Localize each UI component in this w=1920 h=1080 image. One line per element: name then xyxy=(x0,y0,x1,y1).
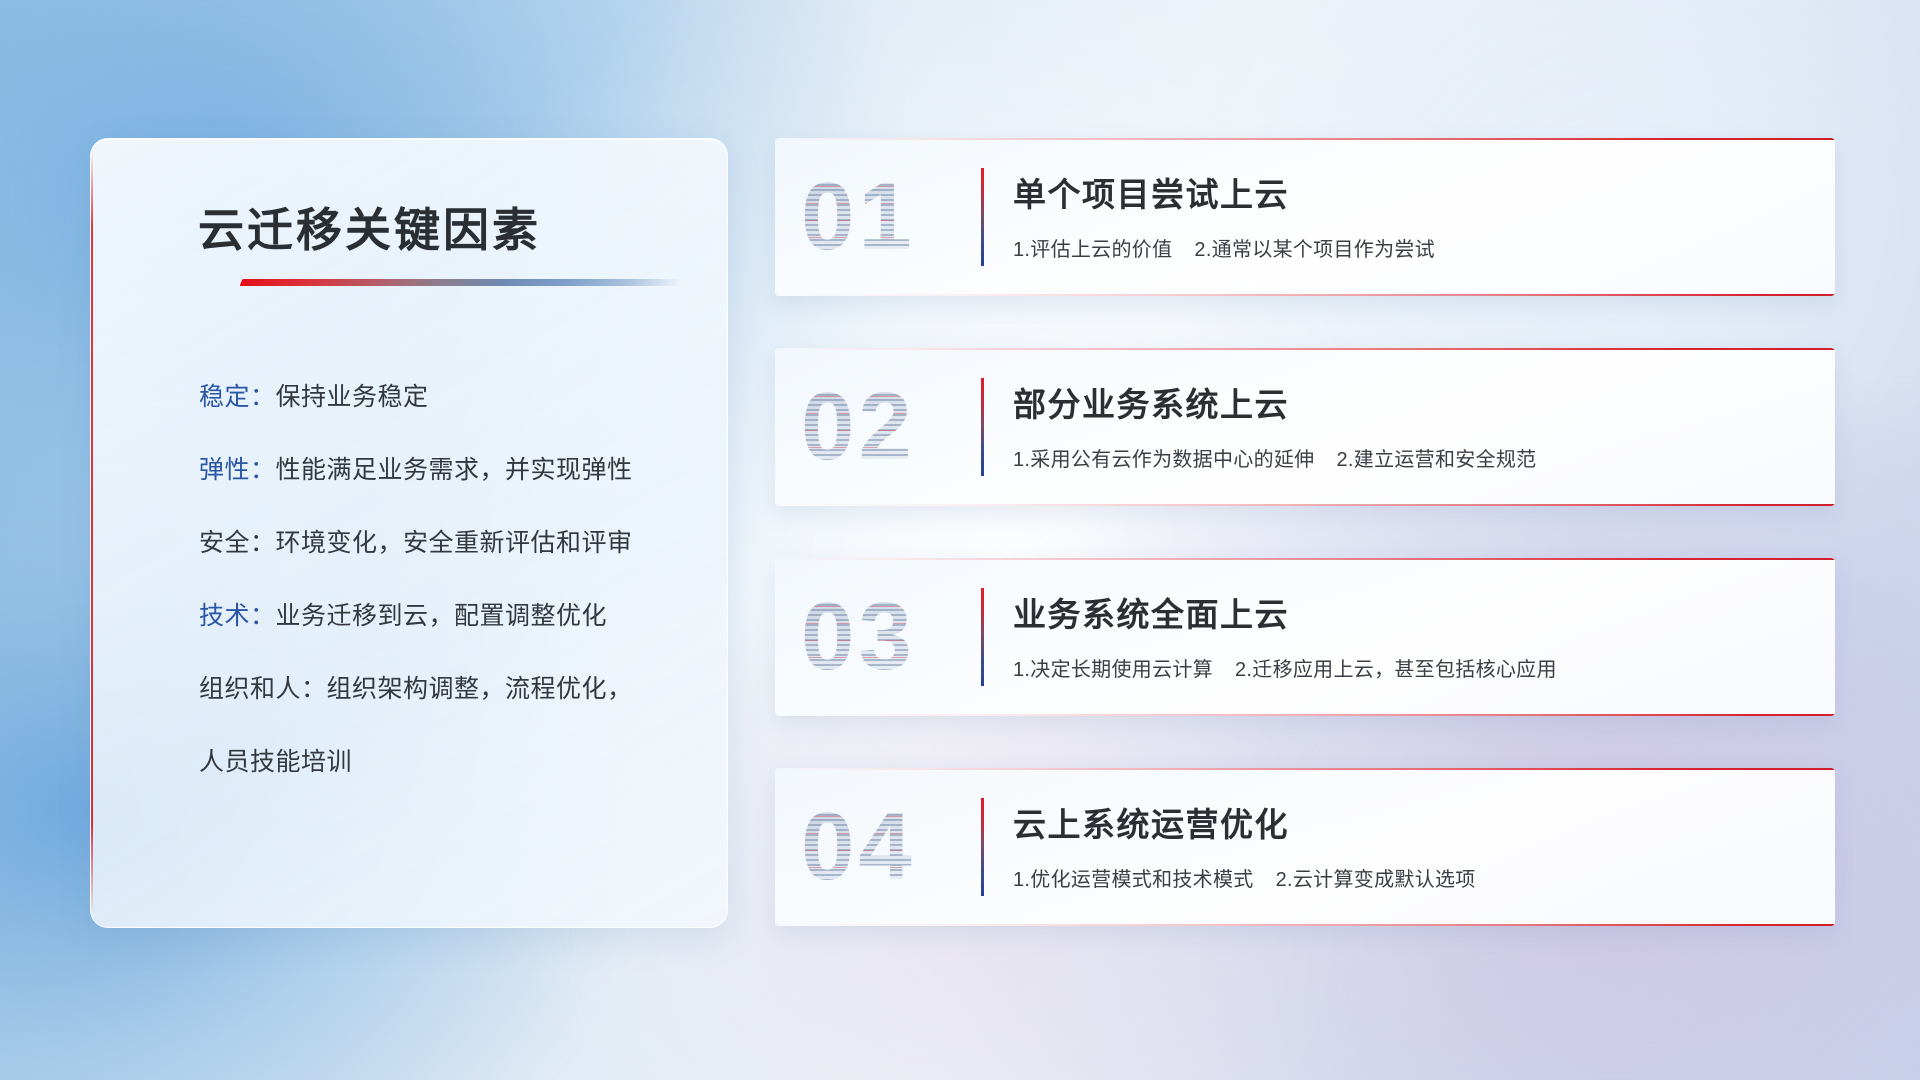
card-content: 云上系统运营优化 1.优化运营模式和技术模式2.云计算变成默认选项 xyxy=(1013,798,1811,892)
stage-point-2: 2.云计算变成默认选项 xyxy=(1276,869,1476,891)
stage-point-2: 2.迁移应用上云，甚至包括核心应用 xyxy=(1235,659,1557,681)
stage-card-02[interactable]: 02 02 部分业务系统上云 1.采用公有云作为数据中心的延伸2.建立运营和安全… xyxy=(775,348,1835,506)
list-item: 弹性：性能满足业务需求，并实现弹性 xyxy=(199,434,687,507)
stage-number-watermark: 02 xyxy=(801,379,916,475)
card-divider-bar xyxy=(981,168,984,266)
key-factors-list: 稳定：保持业务稳定 弹性：性能满足业务需求，并实现弹性 安全：环境变化，安全重新… xyxy=(199,361,687,799)
list-item-text: 保持业务稳定 xyxy=(276,383,429,411)
list-item: 安全：环境变化，安全重新评估和评审 xyxy=(199,507,687,580)
card-bottom-accent-line xyxy=(775,924,1835,926)
card-content: 单个项目尝试上云 1.评估上云的价值2.通常以某个项目作为尝试 xyxy=(1013,168,1811,262)
card-top-accent-line xyxy=(775,138,1835,140)
card-divider-bar xyxy=(981,798,984,896)
list-item: 组织和人：组织架构调整，流程优化， xyxy=(199,653,687,726)
list-item-text: 性能满足业务需求，并实现弹性 xyxy=(276,456,633,484)
card-divider-bar xyxy=(981,588,984,686)
card-top-accent-line xyxy=(775,768,1835,770)
card-divider-bar xyxy=(981,378,984,476)
stage-points: 1.采用公有云作为数据中心的延伸2.建立运营和安全规范 xyxy=(1013,443,1811,472)
list-item-text: 组织架构调整，流程优化， xyxy=(327,675,633,703)
stage-point-1: 1.优化运营模式和技术模式 xyxy=(1013,869,1254,891)
list-item: 技术：业务迁移到云，配置调整优化 xyxy=(199,580,687,653)
list-item: 稳定：保持业务稳定 xyxy=(199,361,687,434)
page-title: 云迁移关键因素 xyxy=(198,194,541,260)
stage-point-1: 1.评估上云的价值 xyxy=(1013,239,1172,261)
list-item-label: 稳定： xyxy=(199,383,276,411)
list-item-label: 弹性： xyxy=(199,456,276,484)
card-top-accent-line xyxy=(775,558,1835,560)
card-bottom-accent-line xyxy=(775,714,1835,716)
title-underline-gradient xyxy=(240,279,683,286)
stage-number-watermark: 03 xyxy=(801,589,916,685)
key-factors-card: 云迁移关键因素 稳定：保持业务稳定 弹性：性能满足业务需求，并实现弹性 安全：环… xyxy=(90,138,728,928)
list-item-label: 组织和人： xyxy=(199,675,327,703)
card-bottom-accent-line xyxy=(775,294,1835,296)
list-item-label: 技术： xyxy=(199,602,276,630)
card-bottom-accent-line xyxy=(775,504,1835,506)
list-item-continuation: 人员技能培训 xyxy=(199,726,687,799)
card-content: 部分业务系统上云 1.采用公有云作为数据中心的延伸2.建立运营和安全规范 xyxy=(1013,378,1811,472)
stage-title: 部分业务系统上云 xyxy=(1013,378,1811,426)
stage-points: 1.评估上云的价值2.通常以某个项目作为尝试 xyxy=(1013,233,1811,262)
stage-card-01[interactable]: 01 01 单个项目尝试上云 1.评估上云的价值2.通常以某个项目作为尝试 xyxy=(775,138,1835,296)
stage-point-1: 1.决定长期使用云计算 xyxy=(1013,659,1213,681)
list-item-text: 环境变化，安全重新评估和评审 xyxy=(276,529,633,557)
stage-points: 1.决定长期使用云计算2.迁移应用上云，甚至包括核心应用 xyxy=(1013,653,1811,682)
stage-point-1: 1.采用公有云作为数据中心的延伸 xyxy=(1013,449,1314,471)
slide-stage: 云迁移关键因素 稳定：保持业务稳定 弹性：性能满足业务需求，并实现弹性 安全：环… xyxy=(0,0,1920,1080)
migration-stages-list: 01 01 单个项目尝试上云 1.评估上云的价值2.通常以某个项目作为尝试 02… xyxy=(775,138,1835,978)
stage-title: 单个项目尝试上云 xyxy=(1013,168,1811,216)
stage-card-04[interactable]: 04 04 云上系统运营优化 1.优化运营模式和技术模式2.云计算变成默认选项 xyxy=(775,768,1835,926)
stage-number-watermark: 01 xyxy=(801,169,916,265)
stage-point-2: 2.建立运营和安全规范 xyxy=(1336,449,1536,471)
stage-point-2: 2.通常以某个项目作为尝试 xyxy=(1194,239,1435,261)
stage-number-watermark: 04 xyxy=(801,799,916,895)
card-left-accent-line xyxy=(91,151,93,915)
stage-card-03[interactable]: 03 03 业务系统全面上云 1.决定长期使用云计算2.迁移应用上云，甚至包括核… xyxy=(775,558,1835,716)
card-content: 业务系统全面上云 1.决定长期使用云计算2.迁移应用上云，甚至包括核心应用 xyxy=(1013,588,1811,682)
list-item-text: 业务迁移到云，配置调整优化 xyxy=(276,602,608,630)
stage-title: 业务系统全面上云 xyxy=(1013,588,1811,636)
list-item-label: 安全： xyxy=(199,529,276,557)
card-top-accent-line xyxy=(775,348,1835,350)
stage-title: 云上系统运营优化 xyxy=(1013,798,1811,846)
stage-points: 1.优化运营模式和技术模式2.云计算变成默认选项 xyxy=(1013,863,1811,892)
list-item-text: 人员技能培训 xyxy=(199,748,352,776)
